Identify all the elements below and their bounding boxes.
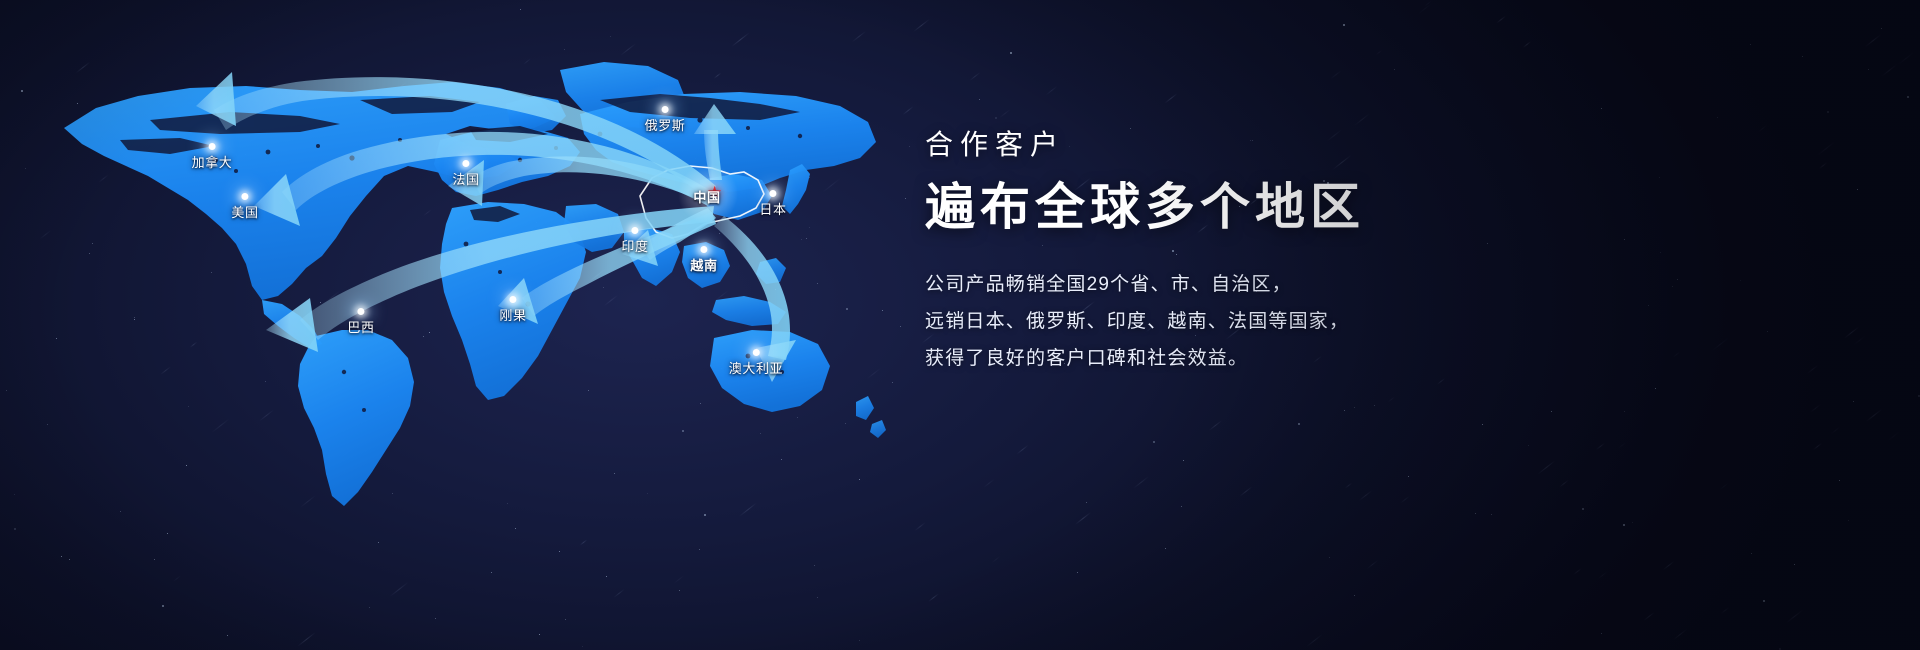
world-map-svg [0,0,980,650]
description-line: 获得了良好的客户口碑和社会效益。 [925,340,1805,377]
page-title: 遍布全球多个地区 [925,178,1805,236]
description-line: 公司产品畅销全国29个省、市、自治区， [925,266,1805,303]
world-map: 加拿大美国巴西法国俄罗斯印度刚果日本越南澳大利亚 ★ 中国 [0,0,980,650]
eyebrow-title: 合作客户 [925,128,1805,162]
hero-copy: 合作客户 遍布全球多个地区 公司产品畅销全国29个省、市、自治区， 远销日本、俄… [925,128,1805,377]
description-paragraph: 公司产品畅销全国29个省、市、自治区， 远销日本、俄罗斯、印度、越南、法国等国家… [925,266,1805,377]
hero-banner: 加拿大美国巴西法国俄罗斯印度刚果日本越南澳大利亚 ★ 中国 合作客户 遍布全球多… [0,0,1920,650]
china-origin-glow [678,164,738,224]
description-line: 远销日本、俄罗斯、印度、越南、法国等国家， [925,303,1805,340]
